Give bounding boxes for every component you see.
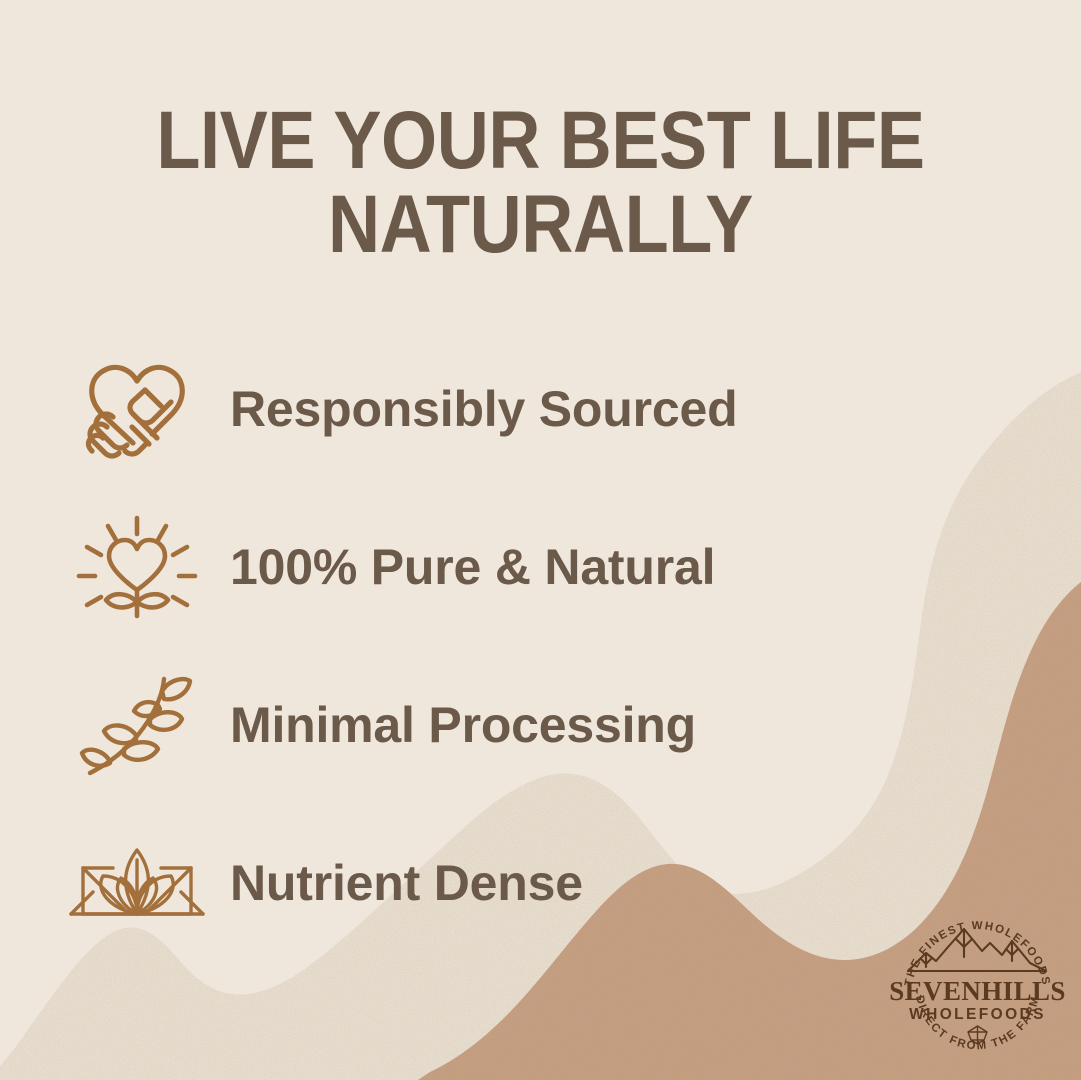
page-title: LIVE YOUR BEST LIFE NATURALLY — [65, 99, 1016, 268]
feature-item-responsibly-sourced: Responsibly Sourced — [0, 330, 1081, 488]
sevenhills-wholefoods-logo: THE FINEST WHOLEFOODS SEVENHILLS WHOLEFO… — [890, 895, 1065, 1070]
feature-label: Minimal Processing — [230, 696, 696, 754]
feature-item-pure-natural: 100% Pure & Natural — [0, 488, 1081, 646]
promotional-poster: LIVE YOUR BEST LIFE NATURALLY — [0, 0, 1081, 1080]
heart-flower-sun-icon — [72, 514, 202, 620]
feature-list: Responsibly Sourced — [0, 330, 1081, 962]
leaf-branch-icon — [72, 669, 202, 781]
feature-label: 100% Pure & Natural — [230, 538, 715, 596]
feature-label: Responsibly Sourced — [230, 380, 737, 438]
feature-label: Nutrient Dense — [230, 854, 583, 912]
handshake-heart-icon — [72, 357, 202, 461]
feature-item-minimal-processing: Minimal Processing — [0, 646, 1081, 804]
geometric-lotus-icon — [72, 842, 202, 924]
